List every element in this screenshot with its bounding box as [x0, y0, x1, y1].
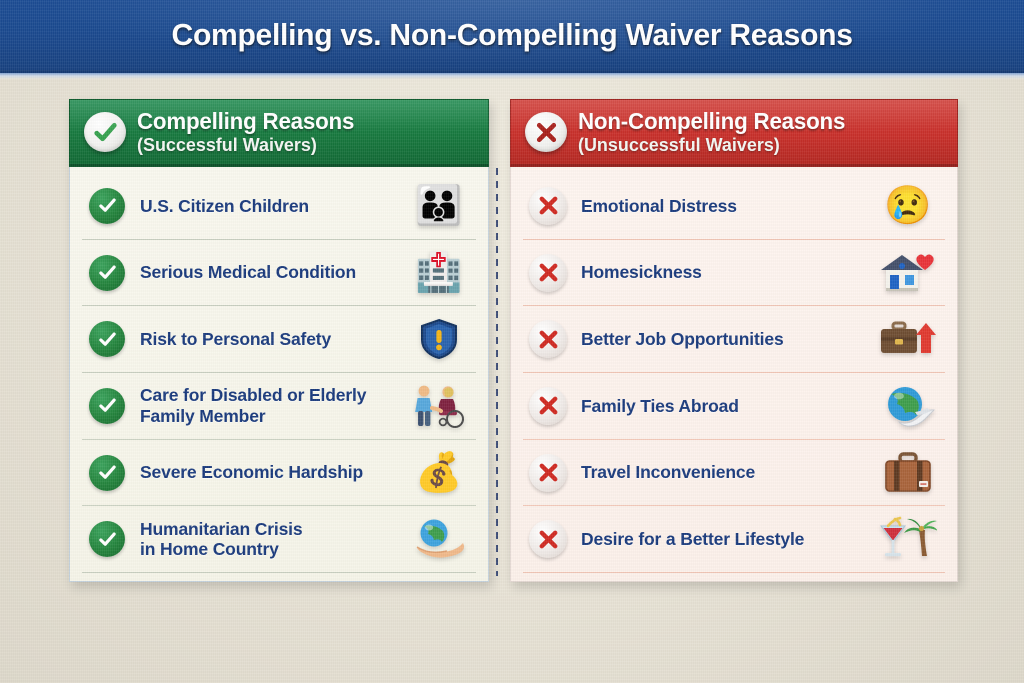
noncompelling-header-titles: Non-Compelling Reasons (Unsuccessful Wai… — [578, 109, 853, 155]
list-item[interactable]: Desire for a Better Lifestyle — [523, 506, 945, 572]
suitcase-emoji — [875, 451, 941, 495]
family-emoji: 👪 — [406, 187, 472, 225]
list-item[interactable]: Risk to Personal Safety — [82, 306, 476, 372]
list-item-label: Risk to Personal Safety — [140, 329, 406, 350]
noncompelling-panel-header: Non-Compelling Reasons (Unsuccessful Wai… — [510, 99, 958, 167]
list-item-label: Serious Medical Condition — [140, 262, 406, 283]
check-circle-icon — [88, 320, 126, 358]
compelling-subheading: (Successful Waivers) — [137, 135, 354, 155]
row-separator — [82, 572, 476, 573]
noncompelling-heading: Non-Compelling Reasons — [578, 109, 845, 134]
globe-in-hand-emoji — [406, 517, 472, 561]
list-item-label: Humanitarian Crisis in Home Country — [140, 519, 406, 560]
list-item-label: U.S. Citizen Children — [140, 196, 406, 217]
check-circle-icon — [88, 254, 126, 292]
x-circle-icon — [529, 454, 567, 492]
list-item-label: Family Ties Abroad — [581, 396, 875, 417]
comparison-columns: Compelling Reasons (Successful Waivers) … — [0, 0, 1024, 683]
list-item[interactable]: Homesickness — [523, 240, 945, 306]
compelling-panel-header: Compelling Reasons (Successful Waivers) — [69, 99, 489, 167]
list-item[interactable]: Care for Disabled or Elderly Family Memb… — [82, 373, 476, 439]
list-item-label: Desire for a Better Lifestyle — [581, 529, 875, 550]
check-circle-icon — [88, 387, 126, 425]
compelling-heading: Compelling Reasons — [137, 109, 354, 134]
warning-shield-emoji — [406, 318, 472, 360]
briefcase-up-arrow-emoji — [875, 317, 941, 361]
check-circle-icon — [84, 112, 126, 152]
list-item[interactable]: Humanitarian Crisis in Home Country — [82, 506, 476, 572]
list-item[interactable]: Family Ties Abroad — [523, 373, 945, 439]
check-circle-icon — [88, 187, 126, 225]
list-item-label: Emotional Distress — [581, 196, 875, 217]
column-divider — [496, 168, 498, 576]
x-circle-icon — [525, 112, 567, 152]
check-circle-icon — [88, 520, 126, 558]
row-separator — [523, 572, 945, 573]
list-item-label: Better Job Opportunities — [581, 329, 875, 350]
wheelchair-caregiver-emoji — [406, 384, 472, 428]
x-circle-icon — [529, 520, 567, 558]
list-item-label: Severe Economic Hardship — [140, 462, 406, 483]
list-item[interactable]: Better Job Opportunities — [523, 306, 945, 372]
cocktail-palm-emoji — [875, 516, 941, 562]
noncompelling-subheading: (Unsuccessful Waivers) — [578, 135, 845, 155]
compelling-items-list: U.S. Citizen Children 👪 Serious Medical … — [69, 167, 489, 582]
noncompelling-items-list: Emotional Distress 😢 Homesickness — [510, 167, 958, 582]
x-circle-icon — [529, 387, 567, 425]
crying-face-emoji: 😢 — [875, 187, 941, 225]
compelling-header-titles: Compelling Reasons (Successful Waivers) — [137, 109, 361, 155]
list-item[interactable]: Emotional Distress 😢 — [523, 173, 945, 239]
check-circle-icon — [88, 454, 126, 492]
globe-airplane-emoji — [875, 384, 941, 428]
coins-money-emoji: 💰 — [406, 454, 472, 492]
list-item[interactable]: U.S. Citizen Children 👪 — [82, 173, 476, 239]
list-item-label: Travel Inconvenience — [581, 462, 875, 483]
x-circle-icon — [529, 187, 567, 225]
medical-shield-stethoscope-emoji: 🏥 — [406, 254, 472, 292]
list-item[interactable]: Travel Inconvenience — [523, 440, 945, 506]
list-item-label: Homesickness — [581, 262, 875, 283]
x-circle-icon — [529, 320, 567, 358]
list-item[interactable]: Severe Economic Hardship 💰 — [82, 440, 476, 506]
list-item[interactable]: Serious Medical Condition 🏥 — [82, 240, 476, 306]
list-item-label: Care for Disabled or Elderly Family Memb… — [140, 385, 406, 426]
infographic-page: Compelling vs. Non-Compelling Waiver Rea… — [0, 0, 1024, 683]
noncompelling-panel: Non-Compelling Reasons (Unsuccessful Wai… — [510, 99, 958, 582]
x-circle-icon — [529, 254, 567, 292]
compelling-panel: Compelling Reasons (Successful Waivers) … — [69, 99, 489, 582]
house-with-heart-emoji — [875, 251, 941, 295]
